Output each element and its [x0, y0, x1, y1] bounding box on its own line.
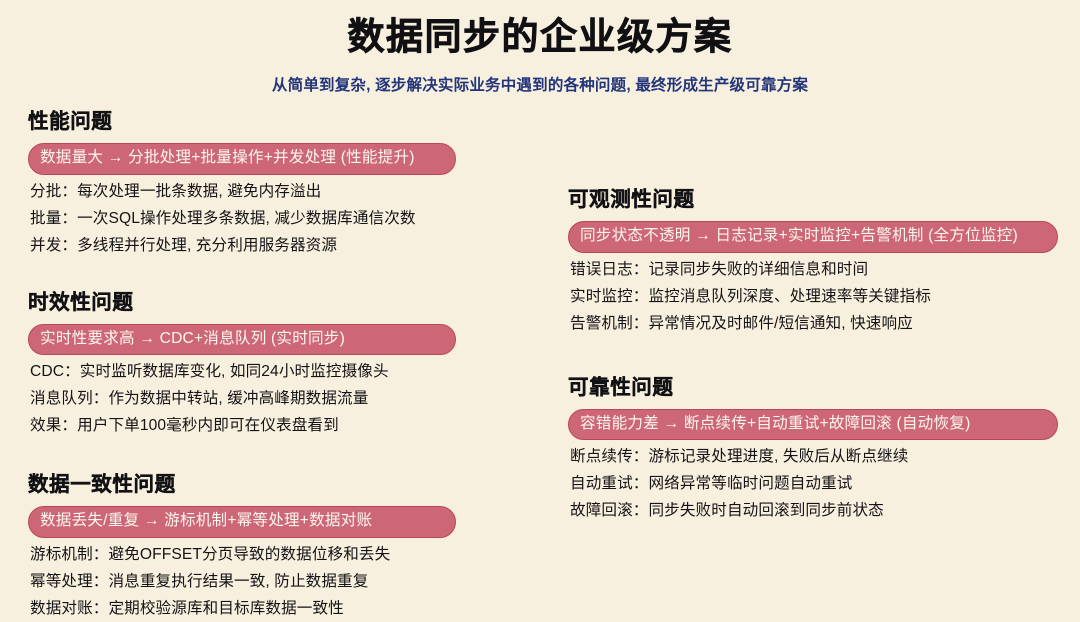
right-column: 可观测性问题 同步状态不透明 → 日志记录+实时监控+告警机制 (全方位监控) … — [568, 104, 1062, 524]
detail-item: 实时监控：监控消息队列深度、处理速率等关键指标 — [570, 283, 1062, 310]
detail-item: 效果：用户下单100毫秒内即可在仪表盘看到 — [30, 412, 488, 439]
solution-pill: 数据量大 → 分批处理+批量操作+并发处理 (性能提升) — [28, 143, 456, 175]
left-column: 性能问题 数据量大 → 分批处理+批量操作+并发处理 (性能提升) 分批：每次处… — [28, 104, 488, 622]
section-heading: 可靠性问题 — [568, 370, 1062, 400]
detail-list: 断点续传：游标记录处理进度, 失败后从断点继续 自动重试：网络异常等临时问题自动… — [568, 443, 1062, 524]
detail-item: 断点续传：游标记录处理进度, 失败后从断点继续 — [570, 443, 1062, 470]
page-subtitle: 从简单到复杂, 逐步解决实际业务中遇到的各种问题, 最终形成生产级可靠方案 — [0, 73, 1080, 95]
solution-pill: 同步状态不透明 → 日志记录+实时监控+告警机制 (全方位监控) — [568, 221, 1058, 253]
detail-item: 数据对账：定期校验源库和目标库数据一致性 — [30, 595, 488, 622]
solution-pill: 容错能力差 → 断点续传+自动重试+故障回滚 (自动恢复) — [568, 409, 1058, 441]
solution-pill: 数据丢失/重复 → 游标机制+幂等处理+数据对账 — [28, 506, 456, 538]
section-heading: 可观测性问题 — [568, 182, 1062, 212]
solution-pill: 实时性要求高 → CDC+消息队列 (实时同步) — [28, 324, 456, 356]
detail-item: 幂等处理：消息重复执行结果一致, 防止数据重复 — [30, 568, 488, 595]
detail-item: 自动重试：网络异常等临时问题自动重试 — [570, 470, 1062, 497]
section-reliability: 可靠性问题 容错能力差 → 断点续传+自动重试+故障回滚 (自动恢复) 断点续传… — [568, 370, 1062, 525]
section-timeliness: 时效性问题 实时性要求高 → CDC+消息队列 (实时同步) CDC：实时监听数… — [28, 285, 488, 440]
detail-item: 消息队列：作为数据中转站, 缓冲高峰期数据流量 — [30, 385, 488, 412]
page-title: 数据同步的企业级方案 — [0, 14, 1080, 60]
detail-item: 游标机制：避免OFFSET分页导致的数据位移和丢失 — [30, 541, 488, 568]
detail-item: CDC：实时监听数据库变化, 如同24小时监控摄像头 — [30, 358, 488, 385]
section-performance: 性能问题 数据量大 → 分批处理+批量操作+并发处理 (性能提升) 分批：每次处… — [28, 104, 488, 259]
detail-item: 分批：每次处理一批条数据, 避免内存溢出 — [30, 178, 488, 205]
content-columns: 性能问题 数据量大 → 分批处理+批量操作+并发处理 (性能提升) 分批：每次处… — [0, 104, 1080, 604]
section-heading: 时效性问题 — [28, 285, 488, 315]
detail-item: 告警机制：异常情况及时邮件/短信通知, 快速响应 — [570, 310, 1062, 337]
detail-list: 错误日志：记录同步失败的详细信息和时间 实时监控：监控消息队列深度、处理速率等关… — [568, 256, 1062, 337]
detail-item: 故障回滚：同步失败时自动回滚到同步前状态 — [570, 497, 1062, 524]
section-data-consistency: 数据一致性问题 数据丢失/重复 → 游标机制+幂等处理+数据对账 游标机制：避免… — [28, 467, 488, 622]
detail-item: 并发：多线程并行处理, 充分利用服务器资源 — [30, 232, 488, 259]
detail-list: 游标机制：避免OFFSET分页导致的数据位移和丢失 幂等处理：消息重复执行结果一… — [28, 541, 488, 622]
detail-list: CDC：实时监听数据库变化, 如同24小时监控摄像头 消息队列：作为数据中转站,… — [28, 358, 488, 439]
section-heading: 性能问题 — [28, 104, 488, 134]
page-header: 数据同步的企业级方案 从简单到复杂, 逐步解决实际业务中遇到的各种问题, 最终形… — [0, 0, 1080, 95]
section-heading: 数据一致性问题 — [28, 467, 488, 497]
section-observability: 可观测性问题 同步状态不透明 → 日志记录+实时监控+告警机制 (全方位监控) … — [568, 182, 1062, 337]
detail-list: 分批：每次处理一批条数据, 避免内存溢出 批量：一次SQL操作处理多条数据, 减… — [28, 178, 488, 259]
detail-item: 批量：一次SQL操作处理多条数据, 减少数据库通信次数 — [30, 205, 488, 232]
detail-item: 错误日志：记录同步失败的详细信息和时间 — [570, 256, 1062, 283]
